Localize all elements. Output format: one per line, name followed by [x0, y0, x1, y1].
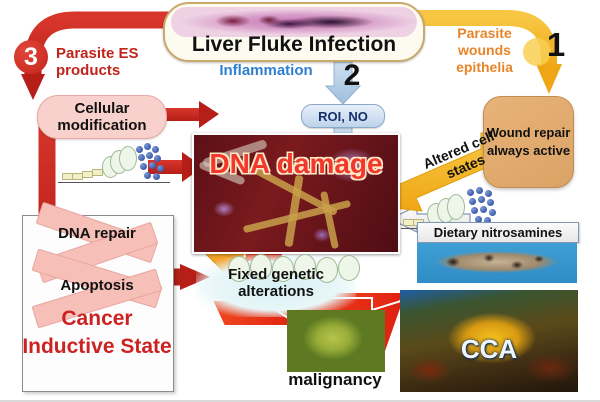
page-title: Liver Fluke Infection: [165, 30, 423, 60]
chromatin-left-icon: [58, 140, 170, 188]
node-roi-no[interactable]: ROI, NO: [301, 104, 385, 128]
dietary-nitrosamines-label: Dietary nitrosamines: [417, 222, 579, 243]
parasite-wounds-epithelia-label: Parasite wounds epithelia: [432, 25, 537, 76]
malignancy-label: malignancy: [260, 370, 410, 390]
dna-damage-image: DNA damage: [192, 133, 400, 254]
inhibited-apoptosis-label: Apoptosis: [34, 277, 160, 294]
pathway-1-number: 1: [541, 23, 571, 67]
pathway-3-number: 3: [14, 40, 48, 74]
cancer-inductive-state-title: Cancer Inductive State: [22, 305, 172, 361]
parasite-es-products-label: Parasite ES products: [56, 45, 186, 79]
cca-label: CCA: [400, 334, 578, 365]
fixed-genetic-alterations-label: Fixed genetic alterations: [196, 266, 356, 300]
node-cellular-modification[interactable]: Cellular modification: [37, 95, 167, 139]
arrow-cellmod-right: [163, 101, 219, 128]
dna-damage-label: DNA damage: [194, 149, 398, 179]
inhibited-dna-repair-label: DNA repair: [38, 225, 156, 242]
pathway-diagram: Liver Fluke Infection Inflammation 3 2 1…: [0, 0, 600, 402]
pathway-2-number: 2: [337, 58, 367, 94]
fish-image: [417, 243, 577, 283]
malignancy-image: [287, 310, 385, 372]
inflammation-label: Inflammation: [196, 62, 336, 82]
liver-fluke-card: Liver Fluke Infection: [163, 2, 425, 62]
